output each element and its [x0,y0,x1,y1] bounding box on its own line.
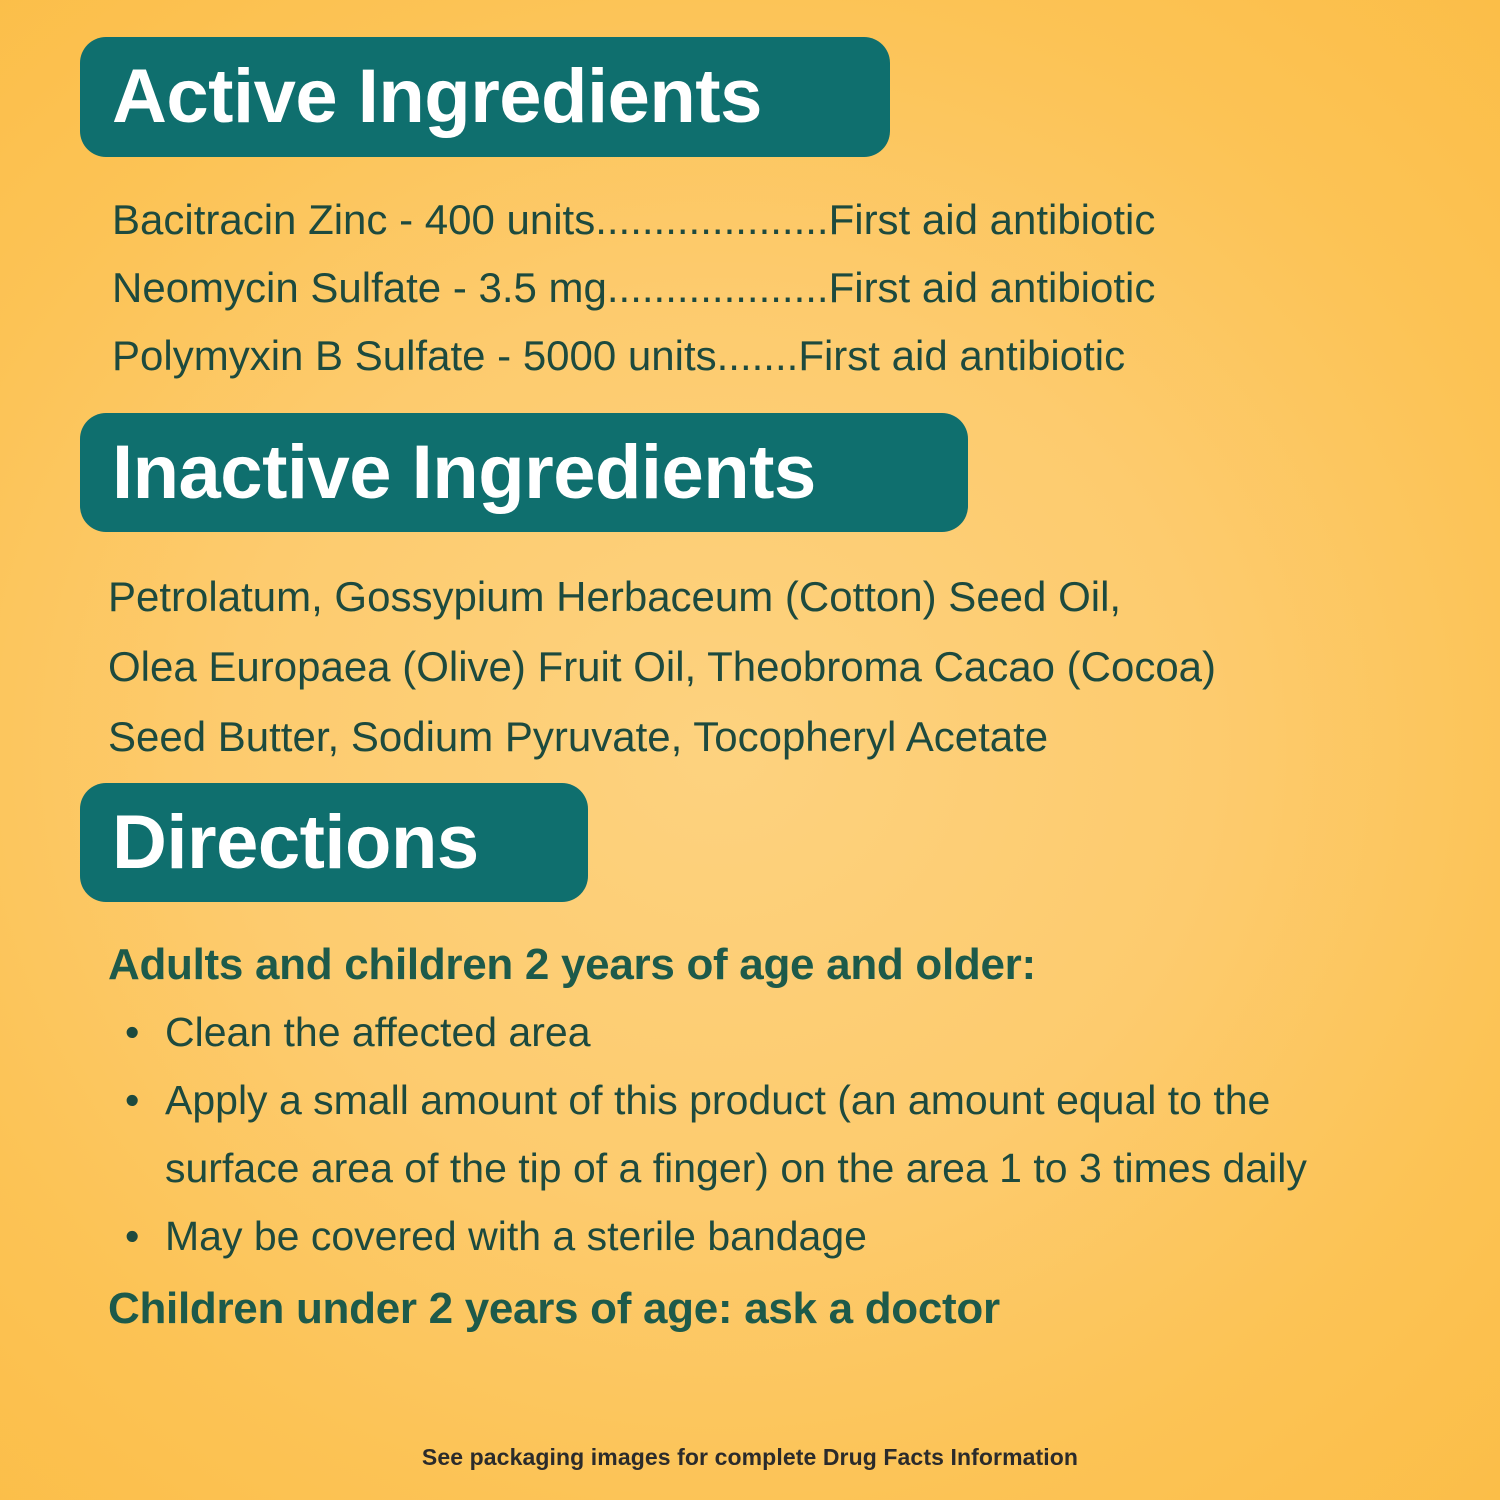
bullet-point-icon: • [125,1066,139,1134]
inactive-ingredient-line: Seed Butter, Sodium Pyruvate, Tocopheryl… [108,702,1448,772]
directions-bullet-text: May be covered with a sterile bandage [165,1213,867,1259]
drug-facts-panel: Active Ingredients Bacitracin Zinc - 400… [0,0,1500,1500]
inactive-ingredients-list: Petrolatum, Gossypium Herbaceum (Cotton)… [108,562,1448,772]
inactive-ingredient-line: Olea Europaea (Olive) Fruit Oil, Theobro… [108,632,1448,702]
directions-bullet-item: • May be covered with a sterile bandage [125,1202,1355,1270]
section-header-directions: Directions [80,783,588,902]
directions-bullet-list: • Clean the affected area • Apply a smal… [108,998,1428,1270]
inactive-ingredient-line: Petrolatum, Gossypium Herbaceum (Cotton)… [108,562,1448,632]
directions-bullet-item: • Clean the affected area [125,998,1355,1066]
directions-subheading: Adults and children 2 years of age and o… [108,932,1428,998]
directions-bullet-item: • Apply a small amount of this product (… [125,1066,1355,1202]
footer-note: See packaging images for complete Drug F… [0,1444,1500,1471]
section-header-directions-label: Directions [112,805,479,881]
active-ingredient-line: Polymyxin B Sulfate - 5000 units.......F… [112,322,1412,390]
section-header-inactive-ingredients-label: Inactive Ingredients [112,435,816,511]
directions-bullet-text: Clean the affected area [165,1009,591,1055]
active-ingredients-list: Bacitracin Zinc - 400 units.............… [112,186,1412,390]
section-header-active-ingredients-label: Active Ingredients [112,59,762,135]
active-ingredient-line: Neomycin Sulfate - 3.5 mg...............… [112,254,1412,322]
directions-bullet-text: Apply a small amount of this product (an… [165,1077,1307,1191]
active-ingredient-line: Bacitracin Zinc - 400 units.............… [112,186,1412,254]
directions-footnote: Children under 2 years of age: ask a doc… [108,1276,1428,1342]
directions-body: Adults and children 2 years of age and o… [108,932,1428,1342]
bullet-point-icon: • [125,998,139,1066]
section-header-inactive-ingredients: Inactive Ingredients [80,413,968,532]
bullet-point-icon: • [125,1202,139,1270]
section-header-active-ingredients: Active Ingredients [80,37,890,157]
